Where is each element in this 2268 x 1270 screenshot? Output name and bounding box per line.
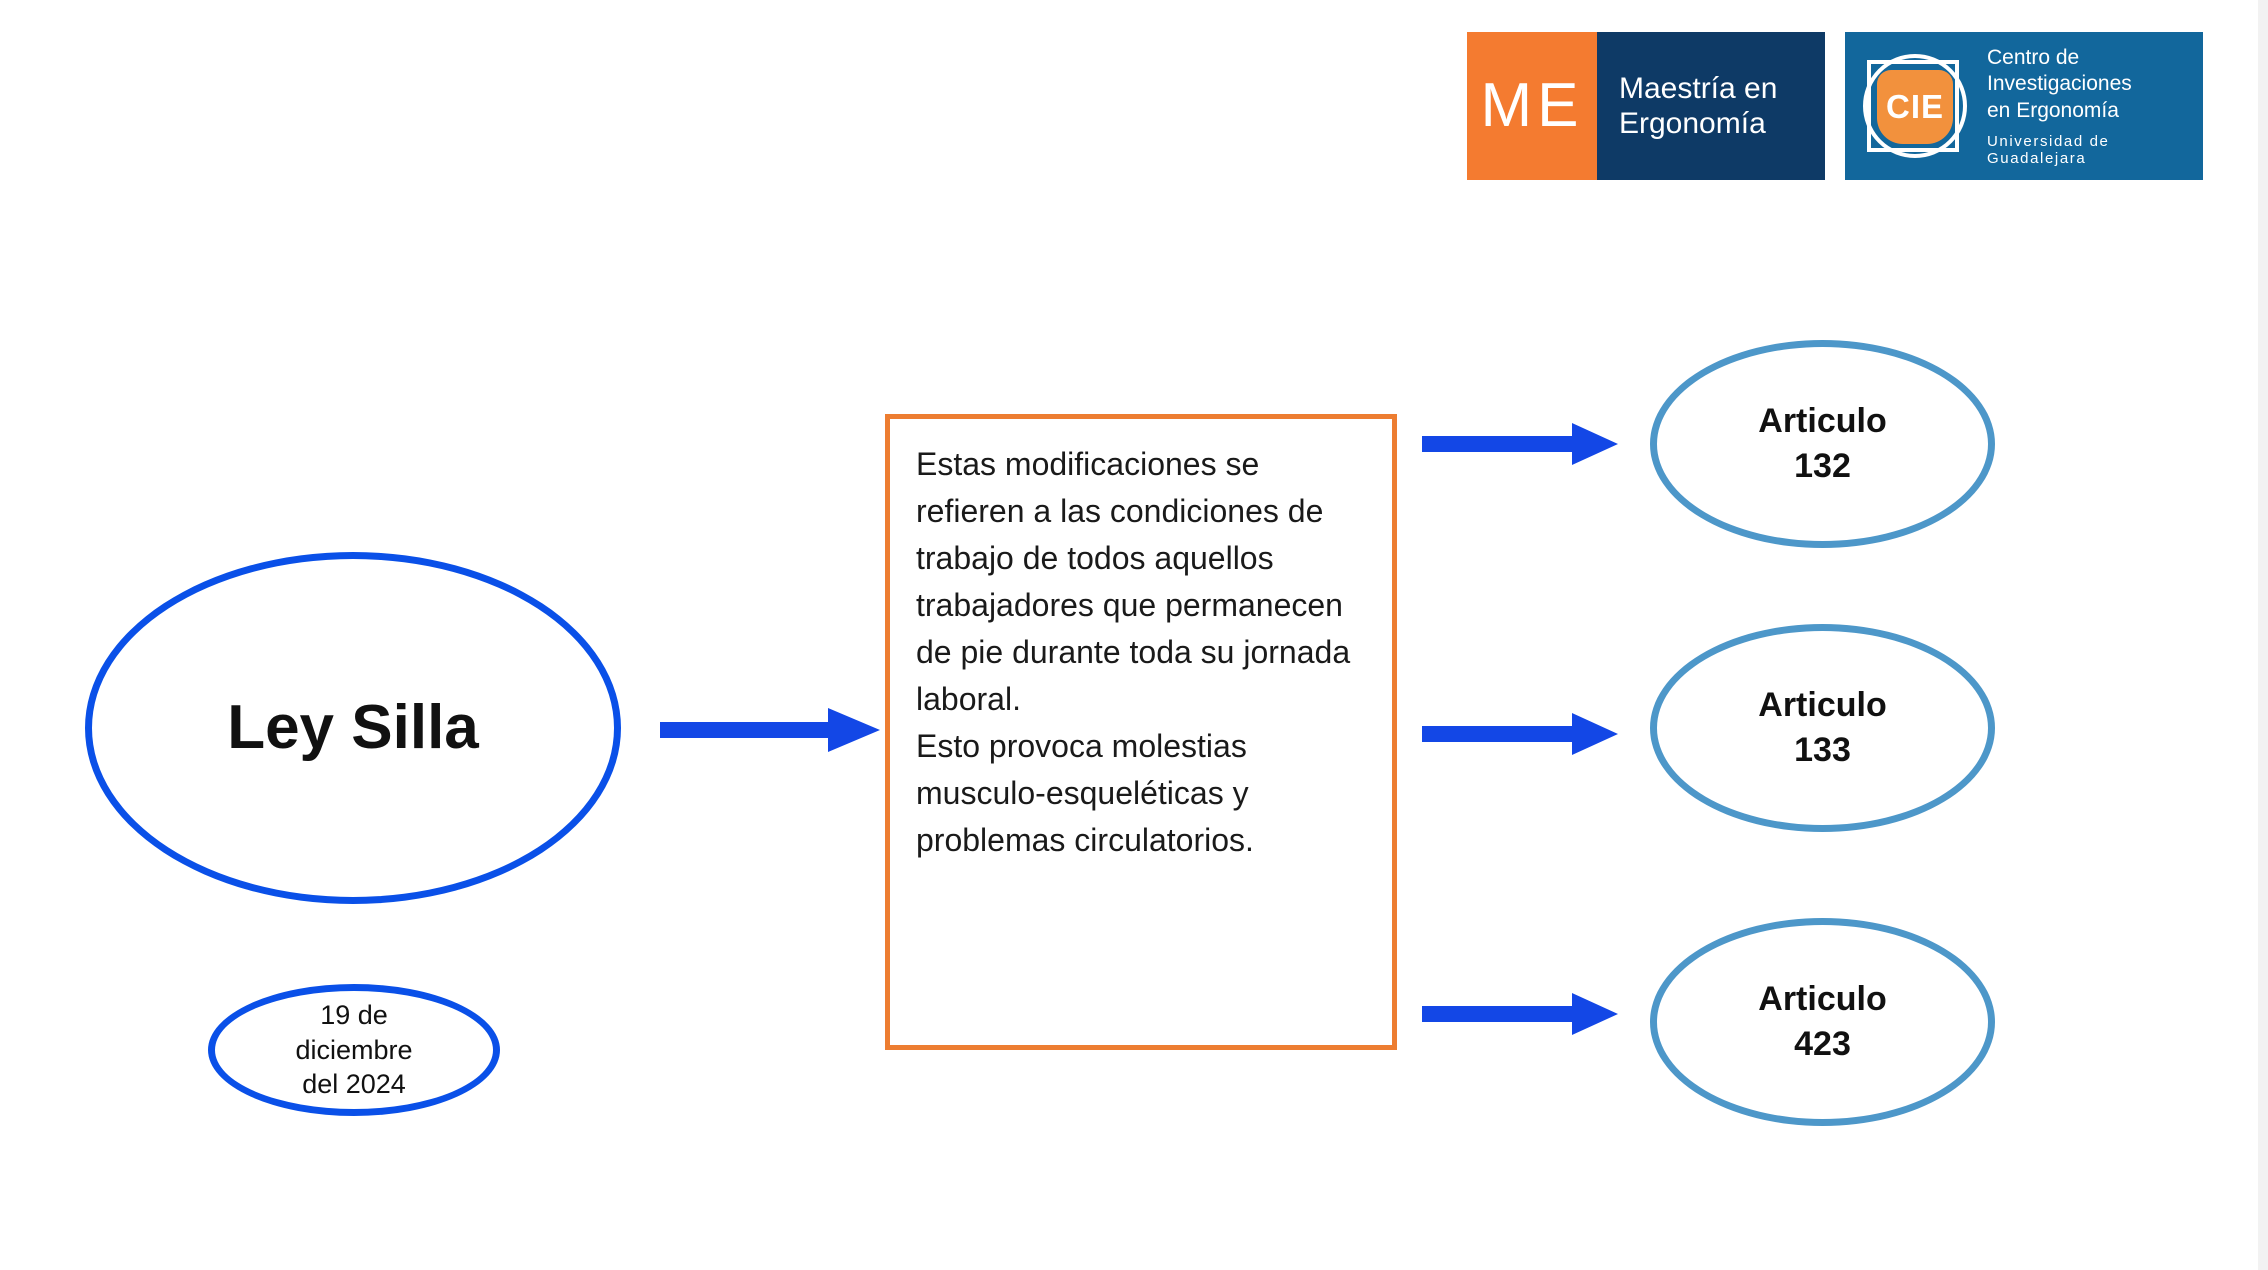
arrow-right-icon <box>1422 988 1618 1040</box>
node-articulo-133[interactable]: Articulo 133 <box>1650 624 1995 832</box>
arrow-right-icon <box>1422 418 1618 470</box>
node-ley-silla-label: Ley Silla <box>227 694 479 762</box>
node-fecha[interactable]: 19 de diciembre del 2024 <box>208 984 500 1116</box>
me-monogram: ME <box>1467 32 1597 180</box>
slide-edge-strip <box>2258 0 2268 1270</box>
descripcion-paragraph-1: Estas modificaciones se refieren a las c… <box>916 441 1366 723</box>
me-wordmark-line1: Maestría en <box>1619 71 1825 106</box>
arrow-ley-silla-to-descripcion <box>660 702 880 758</box>
descripcion-paragraph-2: Esto provoca molestias musculo-esqueléti… <box>916 723 1366 864</box>
node-articulo-133-line2: 133 <box>1758 728 1886 773</box>
node-articulo-423-line2: 423 <box>1758 1022 1886 1067</box>
cie-wordmark: Centro de Investigaciones en Ergonomía U… <box>1971 45 2203 167</box>
cie-badge-icon: CIE <box>1859 50 1971 162</box>
me-monogram-text: ME <box>1481 75 1584 137</box>
node-articulo-132-line1: Articulo <box>1758 399 1886 444</box>
cie-wordmark-line3: Universidad de Guadalejara <box>1987 133 2203 167</box>
arrow-right-icon <box>660 702 880 758</box>
arrow-descripcion-to-articulo-423 <box>1422 988 1618 1040</box>
logo-bar: ME Maestría en Ergonomía CIE Centro de I… <box>1467 32 2203 180</box>
node-articulo-423-line1: Articulo <box>1758 977 1886 1022</box>
cie-wordmark-line2: en Ergonomía <box>1987 98 2203 124</box>
node-articulo-132-label: Articulo 132 <box>1758 399 1886 489</box>
node-fecha-line1: 19 de <box>295 998 412 1033</box>
cie-logo: CIE Centro de Investigaciones en Ergonom… <box>1845 32 2203 180</box>
slide-canvas: ME Maestría en Ergonomía CIE Centro de I… <box>0 0 2268 1270</box>
arrow-right-icon <box>1422 708 1618 760</box>
node-articulo-423[interactable]: Articulo 423 <box>1650 918 1995 1126</box>
node-articulo-133-line1: Articulo <box>1758 683 1886 728</box>
cie-shield-shape: CIE <box>1877 70 1953 144</box>
cie-badge-text: CIE <box>1886 88 1944 126</box>
node-fecha-line2: diciembre <box>295 1033 412 1068</box>
node-articulo-423-label: Articulo 423 <box>1758 977 1886 1067</box>
node-articulo-133-label: Articulo 133 <box>1758 683 1886 773</box>
maestria-en-ergonomia-logo: ME Maestría en Ergonomía <box>1467 32 1825 180</box>
me-wordmark-line2: Ergonomía <box>1619 106 1825 141</box>
node-articulo-132-line2: 132 <box>1758 444 1886 489</box>
node-fecha-label: 19 de diciembre del 2024 <box>295 998 412 1102</box>
node-descripcion[interactable]: Estas modificaciones se refieren a las c… <box>885 414 1397 1050</box>
node-ley-silla[interactable]: Ley Silla <box>85 552 621 904</box>
node-fecha-line3: del 2024 <box>295 1067 412 1102</box>
me-wordmark: Maestría en Ergonomía <box>1597 32 1825 180</box>
arrow-descripcion-to-articulo-133 <box>1422 708 1618 760</box>
cie-wordmark-line1: Centro de Investigaciones <box>1987 45 2203 98</box>
arrow-descripcion-to-articulo-132 <box>1422 418 1618 470</box>
node-articulo-132[interactable]: Articulo 132 <box>1650 340 1995 548</box>
